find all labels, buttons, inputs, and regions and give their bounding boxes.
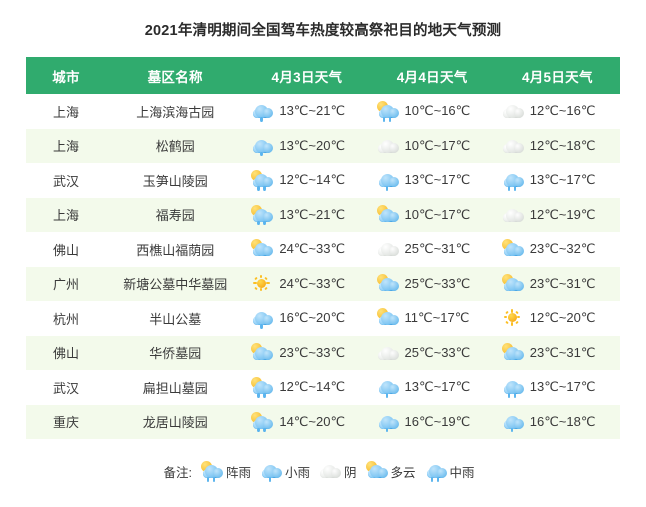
light-rain-icon <box>501 412 525 432</box>
cell-weather-apr5: 12℃~19℃ <box>495 198 620 233</box>
partly-cloudy-icon <box>250 239 274 259</box>
cell-weather-apr4: 11℃~17℃ <box>370 301 495 336</box>
cell-weather-apr3: 24℃~33℃ <box>244 232 369 267</box>
cell-weather-apr3: 16℃~20℃ <box>244 301 369 336</box>
temperature-range: 12℃~16℃ <box>530 103 596 119</box>
light-rain-icon <box>376 170 400 190</box>
partly-cloudy-icon <box>365 461 389 481</box>
legend-items: 阵雨小雨阴多云中雨 <box>200 461 483 481</box>
header-row: 城市 墓区名称 4月3日天气 4月4日天气 4月5日天气 <box>26 57 620 94</box>
temperature-range: 13℃~17℃ <box>530 379 596 395</box>
legend-item-label: 阴 <box>344 462 357 481</box>
cell-cemetery-name: 半山公墓 <box>106 301 244 336</box>
legend-item: 小雨 <box>259 461 310 481</box>
table-row: 杭州半山公墓16℃~20℃11℃~17℃12℃~20℃ <box>26 301 620 336</box>
cell-weather-apr3: 12℃~14℃ <box>244 163 369 198</box>
overcast-icon <box>501 101 525 121</box>
table-row: 武汉扁担山墓园12℃~14℃13℃~17℃13℃~17℃ <box>26 370 620 405</box>
cell-cemetery-name: 松鹤园 <box>106 129 244 164</box>
cell-weather-apr4: 25℃~31℃ <box>370 232 495 267</box>
temperature-range: 14℃~20℃ <box>279 414 345 430</box>
cell-cemetery-name: 玉笋山陵园 <box>106 163 244 198</box>
cell-weather-apr4: 10℃~17℃ <box>370 198 495 233</box>
cell-city: 佛山 <box>26 336 106 371</box>
cell-city: 佛山 <box>26 232 106 267</box>
page-title: 2021年清明期间全国驾车热度较高祭祀目的地天气预测 <box>0 0 646 40</box>
shower-icon <box>250 170 274 190</box>
cell-city: 上海 <box>26 198 106 233</box>
sun-shape <box>254 276 268 290</box>
moderate-rain-icon <box>501 377 525 397</box>
light-rain-icon <box>376 377 400 397</box>
temperature-range: 13℃~20℃ <box>279 138 345 154</box>
cell-city: 杭州 <box>26 301 106 336</box>
table-row: 武汉玉笋山陵园12℃~14℃13℃~17℃13℃~17℃ <box>26 163 620 198</box>
light-rain-icon <box>250 136 274 156</box>
legend: 备注: 阵雨小雨阴多云中雨 <box>0 461 646 481</box>
column-header-apr4: 4月4日天气 <box>370 57 495 94</box>
temperature-range: 23℃~31℃ <box>530 276 596 292</box>
moderate-rain-icon <box>501 170 525 190</box>
light-rain-icon <box>259 461 283 481</box>
overcast-icon <box>376 343 400 363</box>
temperature-range: 23℃~33℃ <box>279 345 345 361</box>
temperature-range: 10℃~16℃ <box>405 103 471 119</box>
partly-cloudy-icon <box>376 274 400 294</box>
cell-cemetery-name: 福寿园 <box>106 198 244 233</box>
table-body: 上海上海滨海古园13℃~21℃10℃~16℃12℃~16℃上海松鹤园13℃~20… <box>26 94 620 439</box>
overcast-icon <box>318 461 342 481</box>
partly-cloudy-icon <box>501 274 525 294</box>
cell-weather-apr5: 13℃~17℃ <box>495 370 620 405</box>
legend-item: 多云 <box>365 461 416 481</box>
cell-cemetery-name: 西樵山福荫园 <box>106 232 244 267</box>
cell-weather-apr5: 23℃~32℃ <box>495 232 620 267</box>
cell-cemetery-name: 龙居山陵园 <box>106 405 244 440</box>
overcast-icon <box>376 136 400 156</box>
temperature-range: 10℃~17℃ <box>405 207 471 223</box>
weather-forecast-table: 城市 墓区名称 4月3日天气 4月4日天气 4月5日天气 上海上海滨海古园13℃… <box>26 57 620 439</box>
column-header-city: 城市 <box>26 57 106 94</box>
cell-weather-apr4: 25℃~33℃ <box>370 336 495 371</box>
temperature-range: 25℃~31℃ <box>405 241 471 257</box>
cell-city: 重庆 <box>26 405 106 440</box>
column-header-apr3: 4月3日天气 <box>244 57 369 94</box>
overcast-icon <box>501 136 525 156</box>
partly-cloudy-icon <box>376 205 400 225</box>
temperature-range: 10℃~17℃ <box>405 138 471 154</box>
legend-label: 备注: <box>163 462 191 481</box>
temperature-range: 16℃~19℃ <box>405 414 471 430</box>
cell-city: 广州 <box>26 267 106 302</box>
cell-weather-apr5: 23℃~31℃ <box>495 336 620 371</box>
temperature-range: 24℃~33℃ <box>279 241 345 257</box>
temperature-range: 13℃~21℃ <box>279 103 345 119</box>
light-rain-icon <box>376 412 400 432</box>
cell-weather-apr5: 16℃~18℃ <box>495 405 620 440</box>
column-header-apr5: 4月5日天气 <box>495 57 620 94</box>
legend-item: 中雨 <box>424 461 475 481</box>
column-header-cemetery: 墓区名称 <box>106 57 244 94</box>
temperature-range: 12℃~19℃ <box>530 207 596 223</box>
cell-weather-apr3: 23℃~33℃ <box>244 336 369 371</box>
cell-weather-apr3: 24℃~33℃ <box>244 267 369 302</box>
table-row: 佛山西樵山福荫园24℃~33℃25℃~31℃23℃~32℃ <box>26 232 620 267</box>
table-row: 重庆龙居山陵园14℃~20℃16℃~19℃16℃~18℃ <box>26 405 620 440</box>
table-row: 上海上海滨海古园13℃~21℃10℃~16℃12℃~16℃ <box>26 94 620 129</box>
temperature-range: 13℃~17℃ <box>530 172 596 188</box>
sunny-icon <box>501 308 525 328</box>
partly-cloudy-icon <box>501 239 525 259</box>
temperature-range: 25℃~33℃ <box>405 345 471 361</box>
cell-weather-apr4: 10℃~17℃ <box>370 129 495 164</box>
shower-icon <box>376 101 400 121</box>
temperature-range: 23℃~31℃ <box>530 345 596 361</box>
legend-item: 阴 <box>318 461 357 481</box>
cell-weather-apr4: 16℃~19℃ <box>370 405 495 440</box>
cell-weather-apr5: 12℃~20℃ <box>495 301 620 336</box>
cell-weather-apr4: 25℃~33℃ <box>370 267 495 302</box>
temperature-range: 12℃~20℃ <box>530 310 596 326</box>
cell-weather-apr3: 13℃~20℃ <box>244 129 369 164</box>
cell-cemetery-name: 扁担山墓园 <box>106 370 244 405</box>
table-row: 佛山华侨墓园23℃~33℃25℃~33℃23℃~31℃ <box>26 336 620 371</box>
table-header: 城市 墓区名称 4月3日天气 4月4日天气 4月5日天气 <box>26 57 620 94</box>
cell-city: 上海 <box>26 94 106 129</box>
temperature-range: 25℃~33℃ <box>405 276 471 292</box>
temperature-range: 11℃~17℃ <box>405 310 470 326</box>
temperature-range: 24℃~33℃ <box>279 276 345 292</box>
table-row: 广州新塘公墓中华墓园24℃~33℃25℃~33℃23℃~31℃ <box>26 267 620 302</box>
temperature-range: 16℃~18℃ <box>530 414 596 430</box>
cell-weather-apr3: 12℃~14℃ <box>244 370 369 405</box>
cell-weather-apr3: 13℃~21℃ <box>244 94 369 129</box>
cell-city: 武汉 <box>26 163 106 198</box>
light-rain-icon <box>250 308 274 328</box>
overcast-icon <box>376 239 400 259</box>
partly-cloudy-icon <box>250 343 274 363</box>
shower-icon <box>250 205 274 225</box>
legend-item-label: 多云 <box>391 462 416 481</box>
shower-icon <box>250 412 274 432</box>
cell-cemetery-name: 新塘公墓中华墓园 <box>106 267 244 302</box>
temperature-range: 12℃~18℃ <box>530 138 596 154</box>
moderate-rain-icon <box>424 461 448 481</box>
cell-city: 上海 <box>26 129 106 164</box>
legend-item-label: 阵雨 <box>226 462 251 481</box>
temperature-range: 16℃~20℃ <box>279 310 345 326</box>
cell-weather-apr5: 23℃~31℃ <box>495 267 620 302</box>
cell-weather-apr3: 14℃~20℃ <box>244 405 369 440</box>
temperature-range: 23℃~32℃ <box>530 241 596 257</box>
cell-weather-apr5: 12℃~18℃ <box>495 129 620 164</box>
sunny-icon <box>250 274 274 294</box>
legend-item: 阵雨 <box>200 461 251 481</box>
legend-item-label: 中雨 <box>450 462 475 481</box>
partly-cloudy-icon <box>376 308 400 328</box>
partly-cloudy-icon <box>501 343 525 363</box>
temperature-range: 13℃~21℃ <box>279 207 345 223</box>
sun-shape <box>505 310 519 324</box>
temperature-range: 13℃~17℃ <box>405 172 471 188</box>
table-row: 上海福寿园13℃~21℃10℃~17℃12℃~19℃ <box>26 198 620 233</box>
legend-item-label: 小雨 <box>285 462 310 481</box>
temperature-range: 12℃~14℃ <box>279 172 345 188</box>
shower-icon <box>250 377 274 397</box>
cell-weather-apr4: 10℃~16℃ <box>370 94 495 129</box>
overcast-icon <box>501 205 525 225</box>
cell-weather-apr5: 13℃~17℃ <box>495 163 620 198</box>
table-row: 上海松鹤园13℃~20℃10℃~17℃12℃~18℃ <box>26 129 620 164</box>
cell-weather-apr4: 13℃~17℃ <box>370 163 495 198</box>
cell-cemetery-name: 上海滨海古园 <box>106 94 244 129</box>
cell-cemetery-name: 华侨墓园 <box>106 336 244 371</box>
light-rain-icon <box>250 101 274 121</box>
cell-weather-apr3: 13℃~21℃ <box>244 198 369 233</box>
temperature-range: 13℃~17℃ <box>405 379 471 395</box>
temperature-range: 12℃~14℃ <box>279 379 345 395</box>
cell-city: 武汉 <box>26 370 106 405</box>
cell-weather-apr4: 13℃~17℃ <box>370 370 495 405</box>
cell-weather-apr5: 12℃~16℃ <box>495 94 620 129</box>
shower-icon <box>200 461 224 481</box>
